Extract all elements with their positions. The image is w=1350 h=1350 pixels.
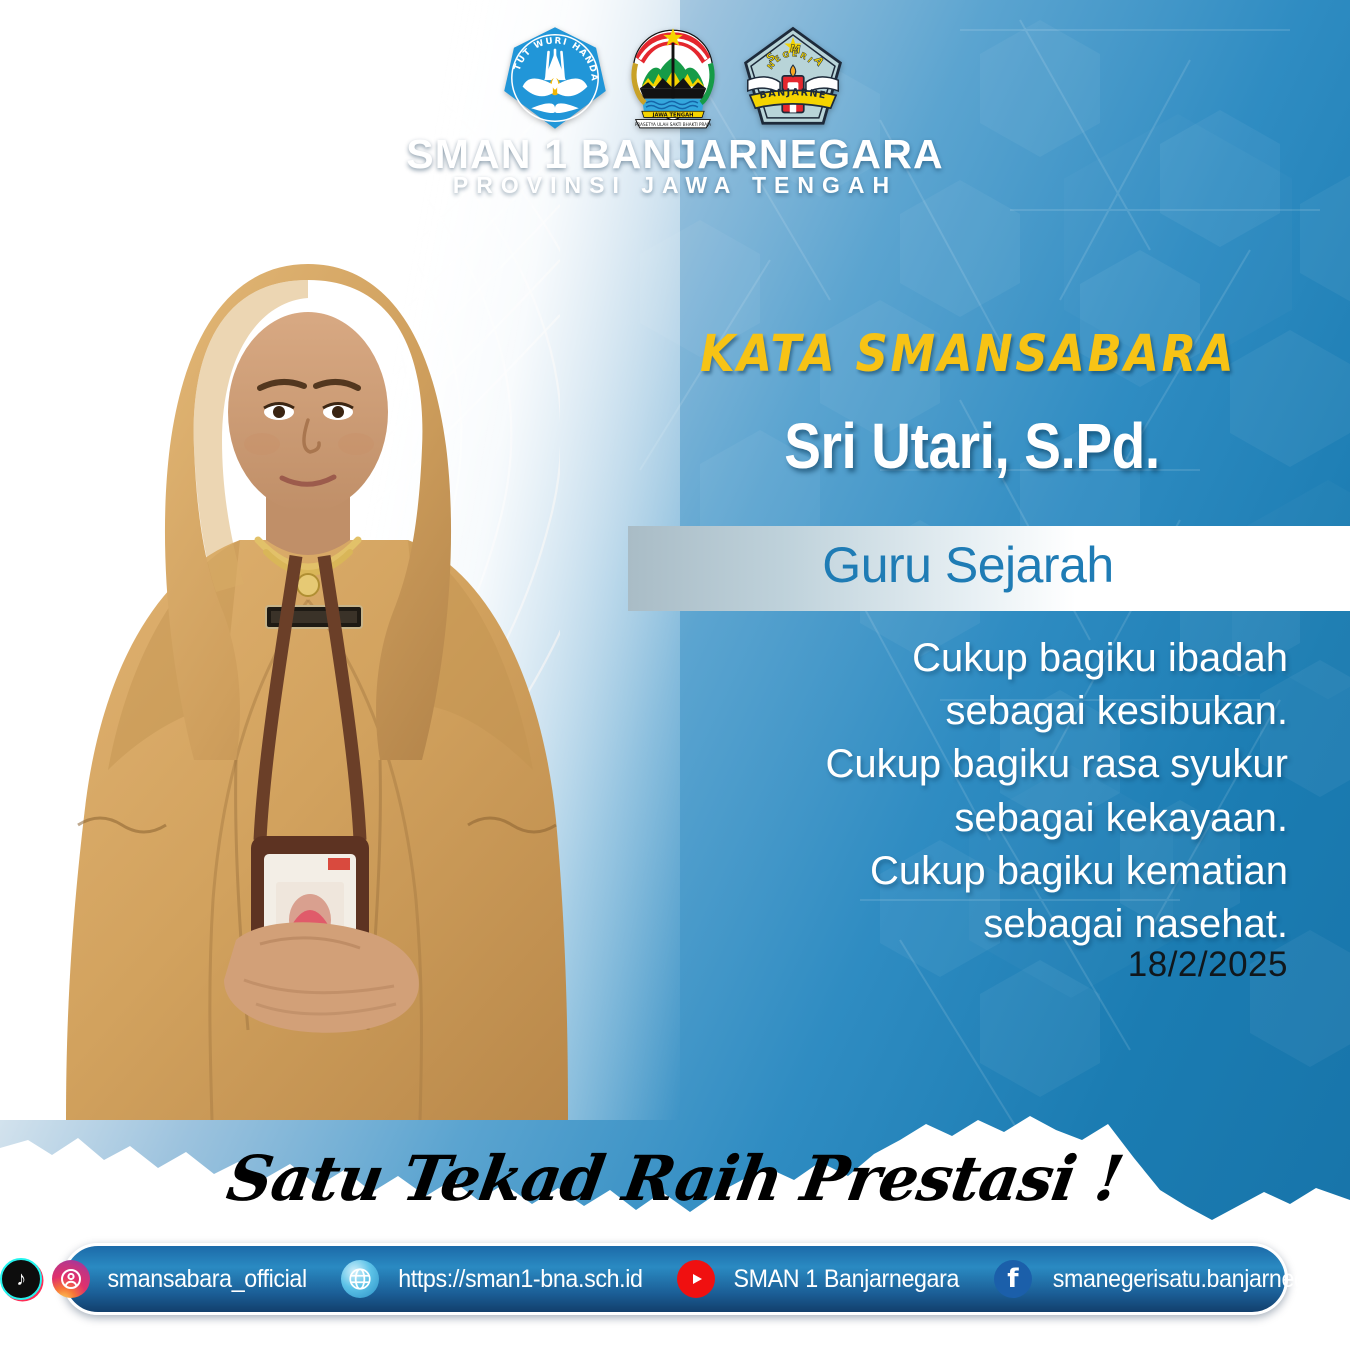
teacher-portrait <box>8 240 708 1120</box>
quote-text: Cukup bagiku ibadah sebagai kesibukan. C… <box>658 632 1288 951</box>
sma-negeri-1-banjarnegara-logo: S M A NEGERI BANJARNEGARA <box>737 24 849 132</box>
instagram-icon[interactable] <box>52 1260 90 1298</box>
footer-tiktok[interactable]: ♪ <box>0 1258 42 1300</box>
instagram-handle: smansabara_official <box>108 1265 307 1294</box>
quote-line: Cukup bagiku ibadah <box>658 632 1288 685</box>
poster-header: TUT WURI HANDAYANI <box>0 0 1350 205</box>
tiktok-icon[interactable]: ♪ <box>0 1258 42 1300</box>
quote-line: sebagai nasehat. <box>658 898 1288 951</box>
quote-line: sebagai kekayaan. <box>658 792 1288 845</box>
person-role: Guru Sejarah <box>628 536 1308 594</box>
website-icon[interactable] <box>341 1260 379 1298</box>
footer-website[interactable]: https://sman1-bna.sch.id <box>341 1260 652 1298</box>
footer-facebook[interactable]: f smanegerisatu.banjarnegara <box>994 1260 1350 1298</box>
series-title: KATA SMANSABARA <box>648 324 1288 383</box>
logo-row: TUT WURI HANDAYANI <box>0 22 1350 132</box>
footer-youtube[interactable]: SMAN 1 Banjarnegara <box>677 1260 968 1298</box>
province-subtitle: PROVINSI JAWA TENGAH <box>0 172 1350 199</box>
quote-line: Cukup bagiku kematian <box>658 845 1288 898</box>
facebook-icon[interactable]: f <box>994 1260 1032 1298</box>
website-url: https://sman1-bna.sch.id <box>398 1265 642 1294</box>
facebook-page: smanegerisatu.banjarnegara <box>1053 1265 1339 1294</box>
youtube-icon[interactable] <box>677 1260 715 1298</box>
jawa-tengah-provincial-emblem: JAWA TENGAH PRASETYA ULAH SAKTI BHAKTI P… <box>621 22 725 132</box>
youtube-channel: SMAN 1 Banjarnegara <box>734 1265 960 1294</box>
svg-text:PRASETYA ULAH SAKTI BHAKTI PRA: PRASETYA ULAH SAKTI BHAKTI PRAJA <box>635 122 711 127</box>
quote-line: sebagai kesibukan. <box>658 685 1288 738</box>
school-tagline: Satu Tekad Raih Prestasi ! <box>0 1142 1350 1215</box>
tut-wuri-handayani-logo: TUT WURI HANDAYANI <box>501 24 609 132</box>
person-name: Sri Utari, S.Pd. <box>697 409 1247 483</box>
poster-canvas: TUT WURI HANDAYANI <box>0 0 1350 1350</box>
page-title: SMAN 1 BANJARNEGARA <box>0 131 1350 178</box>
social-footer-bar: ♪ smansabara_official https://sman1-bna.… <box>62 1243 1288 1315</box>
quote-line: Cukup bagiku rasa syukur <box>658 738 1288 791</box>
quote-date: 18/2/2025 <box>658 945 1288 985</box>
footer-instagram[interactable]: smansabara_official <box>52 1260 314 1298</box>
svg-text:JAWA TENGAH: JAWA TENGAH <box>652 112 694 118</box>
